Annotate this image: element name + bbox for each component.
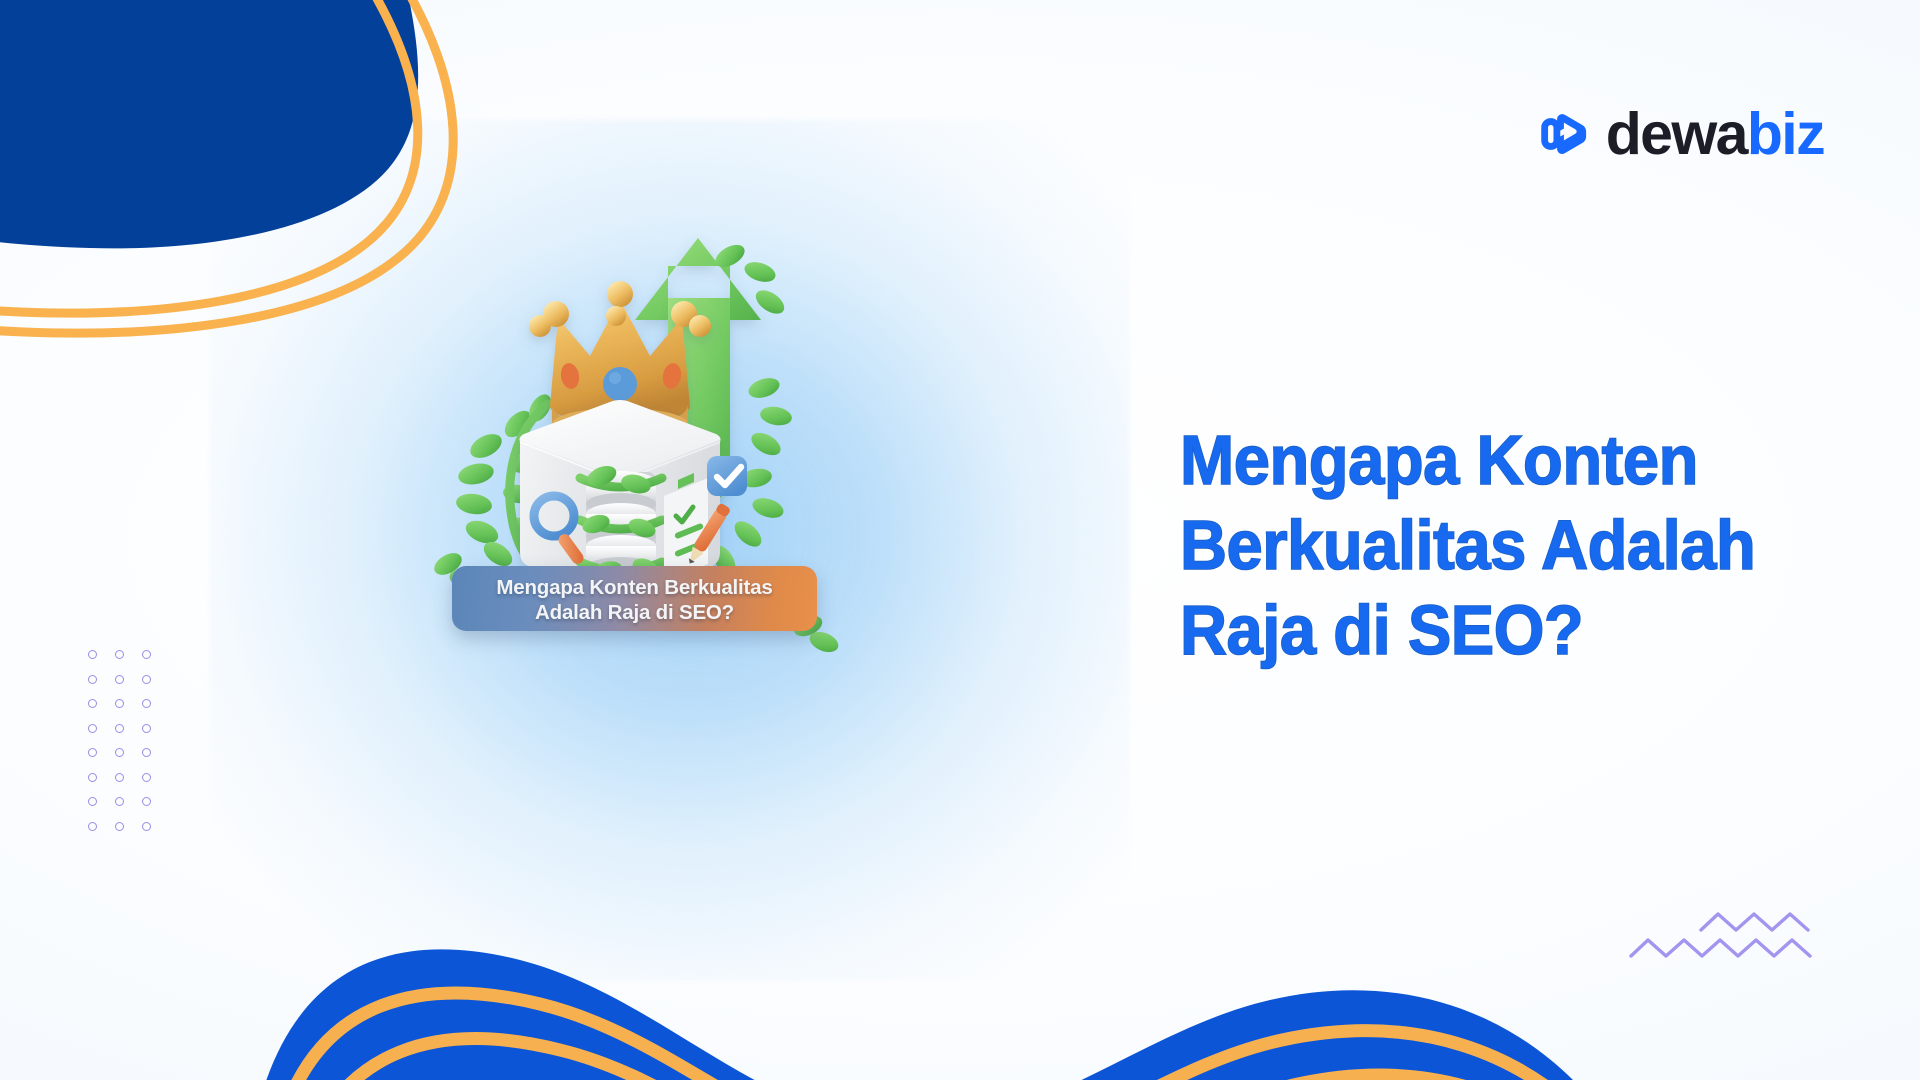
blue-wave-shape bbox=[0, 949, 1670, 1080]
bottom-wave-decoration bbox=[0, 0, 1920, 1080]
poster-canvas: dewabiz Mengapa Konten Berkualitas Adala… bbox=[0, 0, 1920, 1080]
